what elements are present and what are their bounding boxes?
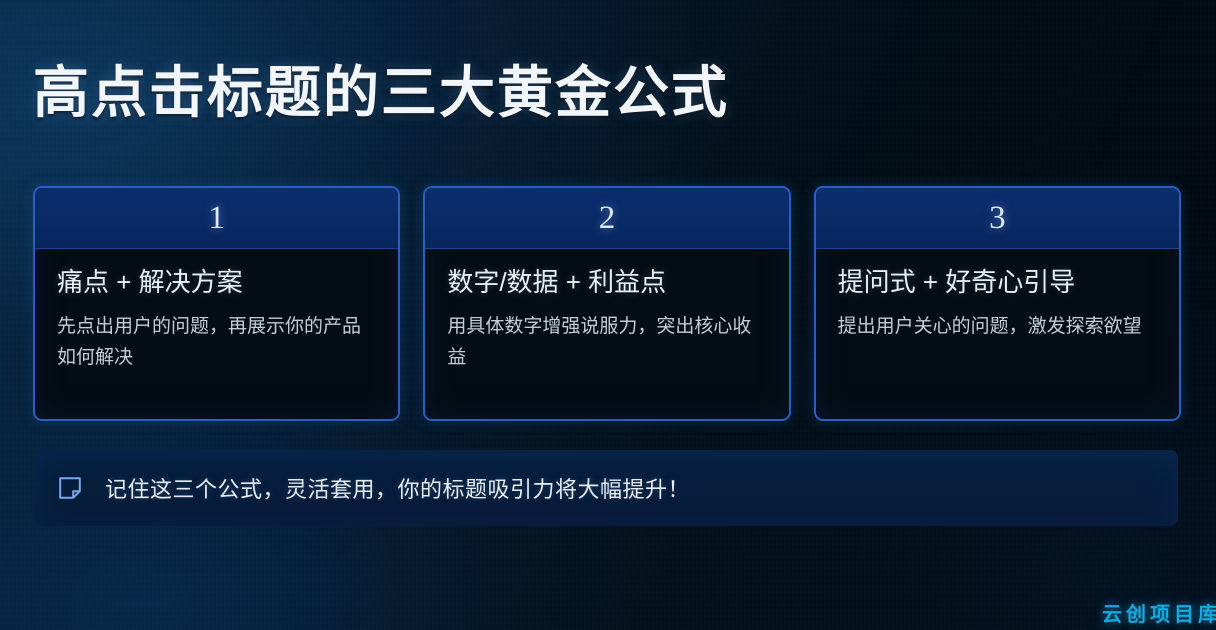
page-title: 高点击标题的三大黄金公式 xyxy=(33,62,729,124)
slide-canvas: 高点击标题的三大黄金公式 1 痛点 + 解决方案 先点出用户的问题，再展示你的产… xyxy=(0,0,1216,630)
card-title: 数字/数据 + 利益点 xyxy=(447,267,768,298)
card-body: 痛点 + 解决方案 先点出用户的问题，再展示你的产品如何解决 xyxy=(35,249,398,419)
formula-card[interactable]: 2 数字/数据 + 利益点 用具体数字增强说服力，突出核心收益 xyxy=(423,186,790,421)
card-title: 痛点 + 解决方案 xyxy=(57,267,378,298)
card-body: 提问式 + 好奇心引导 提出用户关心的问题，激发探索欲望 xyxy=(816,249,1179,419)
summary-note-bar: 记住这三个公式，灵活套用，你的标题吸引力将大幅提升！ xyxy=(35,450,1178,526)
watermark: 云创项目库 xyxy=(1102,598,1216,627)
card-number: 1 xyxy=(208,202,225,235)
card-title: 提问式 + 好奇心引导 xyxy=(838,267,1159,298)
card-description: 用具体数字增强说服力，突出核心收益 xyxy=(447,312,768,374)
card-number: 3 xyxy=(989,202,1006,235)
formula-card-list: 1 痛点 + 解决方案 先点出用户的问题，再展示你的产品如何解决 2 数字/数据… xyxy=(33,186,1181,421)
card-header: 2 xyxy=(425,188,788,249)
card-header: 1 xyxy=(35,188,398,249)
card-description: 先点出用户的问题，再展示你的产品如何解决 xyxy=(57,312,378,374)
card-body: 数字/数据 + 利益点 用具体数字增强说服力，突出核心收益 xyxy=(425,249,788,419)
summary-note-text: 记住这三个公式，灵活套用，你的标题吸引力将大幅提升！ xyxy=(105,472,690,504)
formula-card[interactable]: 1 痛点 + 解决方案 先点出用户的问题，再展示你的产品如何解决 xyxy=(33,186,400,421)
formula-card[interactable]: 3 提问式 + 好奇心引导 提出用户关心的问题，激发探索欲望 xyxy=(814,186,1181,421)
card-description: 提出用户关心的问题，激发探索欲望 xyxy=(838,312,1159,343)
card-header: 3 xyxy=(816,188,1179,249)
card-number: 2 xyxy=(599,202,616,235)
sticky-note-icon xyxy=(57,475,83,501)
